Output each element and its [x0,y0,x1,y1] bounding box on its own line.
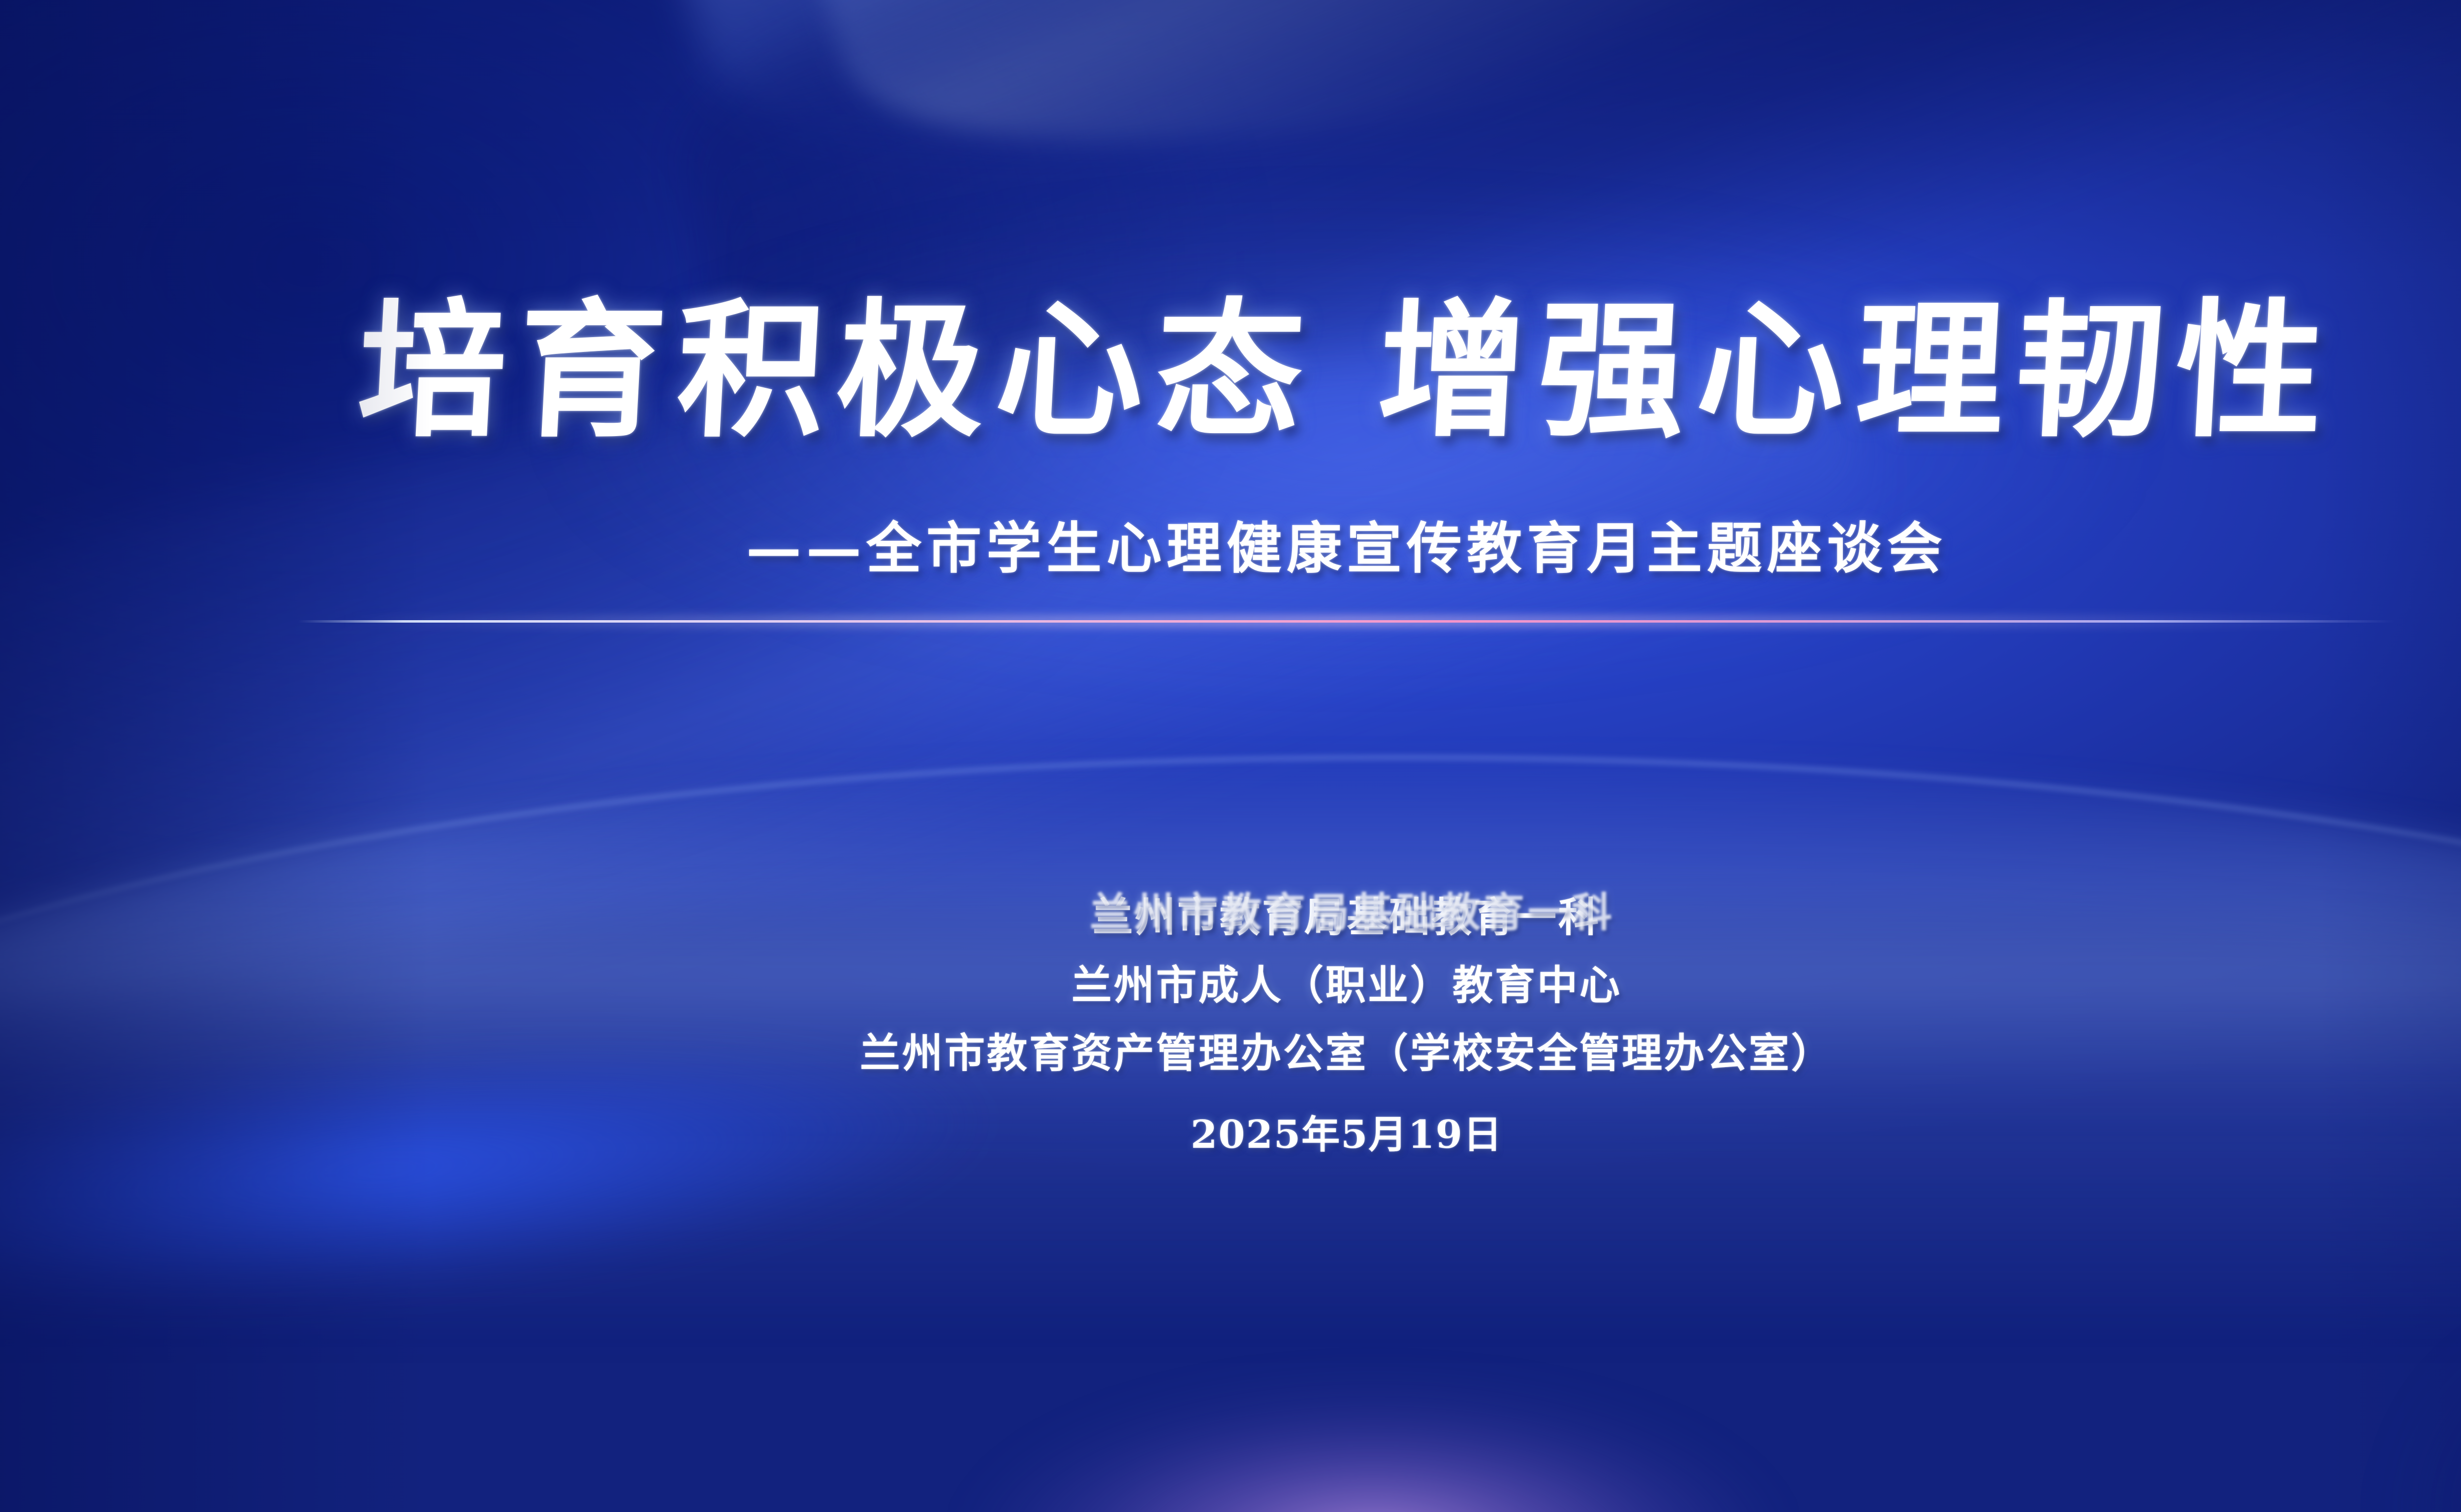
organizer-block: 兰州市教育局基础教育一科 兰州市成人（职业）教育中心 兰州市教育资产管理办公室（… [860,884,1833,1159]
slide-content: 培育积极心态 增强心理韧性 ——全市学生心理健康宣传教育月主题座谈会 兰州市教育… [0,0,2461,1512]
slide-date: 2025年5月19日 [1191,1104,1503,1159]
organizer-line-2: 兰州市成人（职业）教育中心 [1072,952,1622,1020]
slide-main-title: 培育积极心态 增强心理韧性 [354,295,2339,446]
divider-rule [298,620,2395,623]
organizer-line-3: 兰州市教育资产管理办公室（学校安全管理办公室） [860,1020,1833,1088]
presentation-slide: 培育积极心态 增强心理韧性 ——全市学生心理健康宣传教育月主题座谈会 兰州市教育… [0,0,2461,1512]
slide-subtitle: ——全市学生心理健康宣传教育月主题座谈会 [746,504,1947,584]
title-divider [298,614,2395,628]
organizer-line-1: 兰州市教育局基础教育一科 [1093,884,1601,952]
